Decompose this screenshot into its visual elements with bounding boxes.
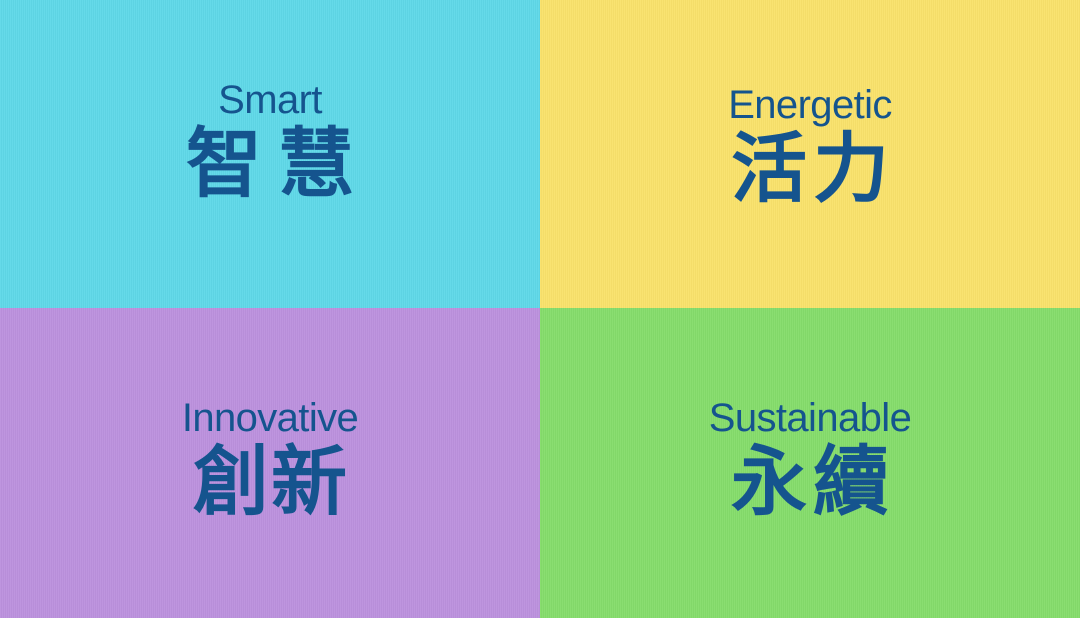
- quadrant-smart-label-en: Smart: [218, 80, 322, 120]
- quadrant-sustainable-label-cjk: 永續: [725, 444, 895, 520]
- quadrant-smart-content: Smart 智慧: [170, 80, 370, 202]
- quadrant-energetic-label-en: Energetic: [728, 85, 892, 125]
- quadrant-energetic-content: Energetic 活力: [725, 85, 895, 207]
- quadrant-innovative-content: Innovative 創新: [182, 398, 358, 520]
- quadrant-sustainable-label-en: Sustainable: [709, 398, 911, 438]
- brand-values-grid: Smart 智慧 Energetic 活力 Innovative 創新 Sust…: [0, 0, 1080, 618]
- quadrant-sustainable-content: Sustainable 永續: [709, 398, 911, 520]
- quadrant-energetic: Energetic 活力: [540, 0, 1080, 308]
- quadrant-energetic-label-cjk: 活力: [725, 131, 895, 207]
- quadrant-innovative-label-cjk: 創新: [191, 444, 349, 520]
- quadrant-smart: Smart 智慧: [0, 0, 540, 308]
- quadrant-sustainable: Sustainable 永續: [540, 308, 1080, 618]
- quadrant-innovative: Innovative 創新: [0, 308, 540, 618]
- quadrant-smart-label-cjk: 智慧: [170, 126, 370, 202]
- quadrant-innovative-label-en: Innovative: [182, 398, 358, 438]
